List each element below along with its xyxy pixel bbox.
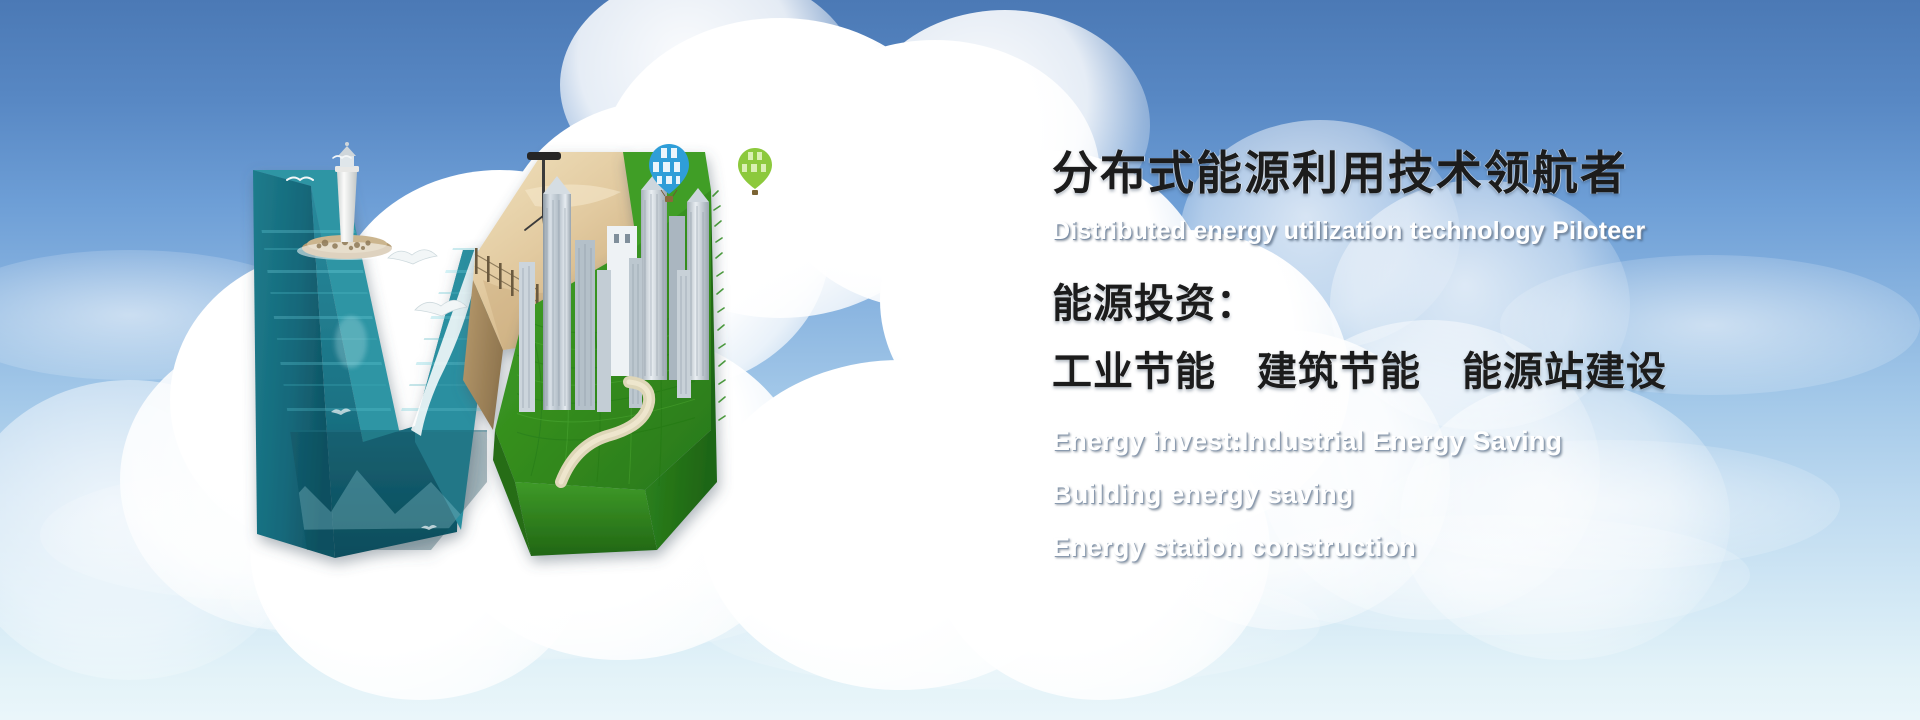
subtitle-english: Distributed energy utilization technolog… — [1052, 218, 1812, 246]
service-item-english: Energy invest:Industrial Energy Saving — [1052, 426, 1812, 457]
midrise-window — [625, 234, 630, 243]
midrise-window — [614, 234, 619, 243]
service-item-english: Building energy saving — [1052, 479, 1812, 510]
banner-copy-block: 分布式能源利用技术领航者 Distributed energy utilizat… — [1052, 150, 1812, 563]
lighthouse-finial — [345, 142, 349, 146]
w-letter-artwork — [225, 130, 905, 600]
skyscraper — [597, 270, 611, 412]
island-foam-ring — [297, 242, 397, 260]
skyscraper — [677, 270, 691, 398]
balloon-basket — [665, 196, 673, 202]
skyscraper — [519, 262, 535, 412]
service-items-english-list: Energy invest:Industrial Energy Saving B… — [1052, 426, 1812, 563]
lighthouse-reflection — [335, 316, 367, 368]
hot-air-balloon-green — [738, 148, 772, 195]
grass-front-face — [515, 482, 657, 556]
hero-banner: 分布式能源利用技术领航者 Distributed energy utilizat… — [0, 0, 1920, 720]
balloon-basket — [752, 190, 758, 195]
turbine-nacelle — [527, 152, 561, 160]
service-item-english: Energy station construction — [1052, 532, 1812, 563]
headline-chinese: 分布式能源利用技术领航者 — [1052, 150, 1812, 196]
service-items-chinese: 工业节能 建筑节能 能源站建设 — [1052, 352, 1812, 392]
lighthouse-roof — [338, 146, 356, 156]
lead-chinese: 能源投资： — [1052, 284, 1812, 324]
